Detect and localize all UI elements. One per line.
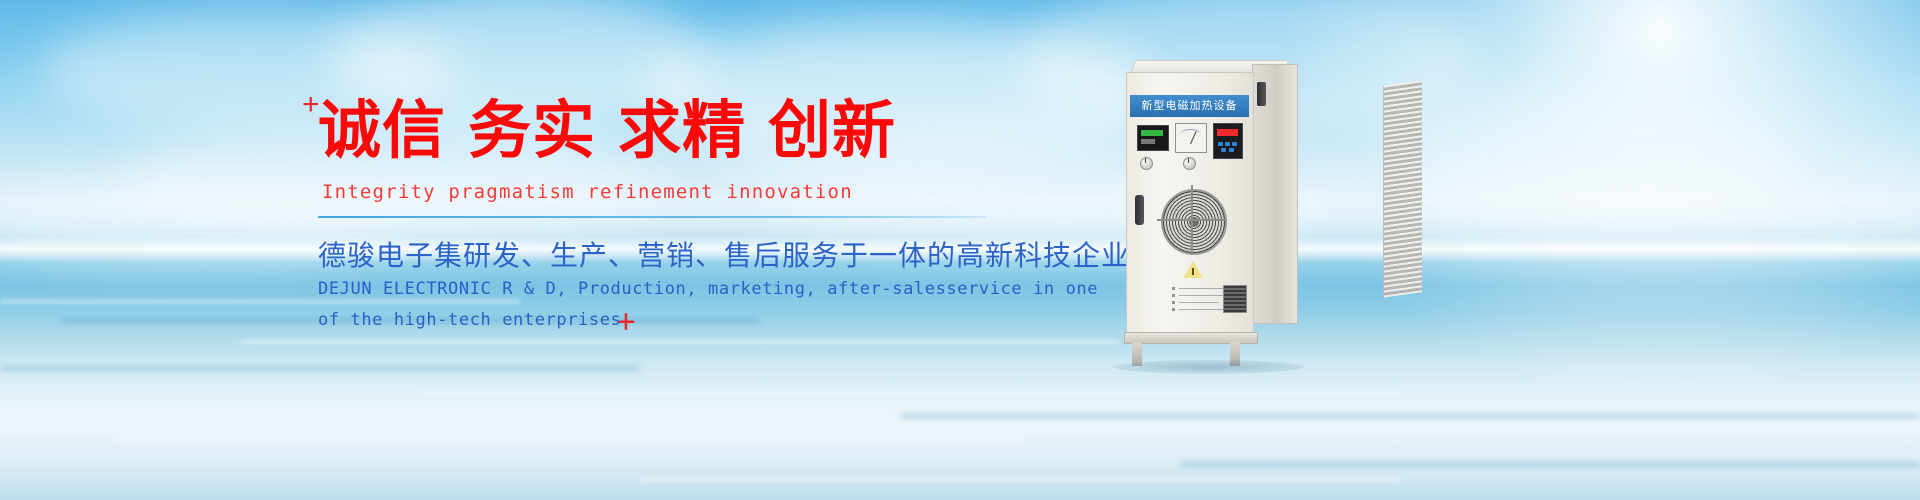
headline-tagline-en: Integrity pragmatism refinement innovati… (322, 181, 1078, 203)
knob-marker (1145, 158, 1146, 163)
water-streak (240, 340, 1120, 343)
divider-rule (318, 216, 986, 218)
keypad-key (1225, 142, 1230, 146)
headline-word-1: 诚信 (318, 94, 446, 167)
analog-gauge-icon (1175, 123, 1207, 153)
keypad-key (1221, 148, 1226, 152)
hero-banner: + + 诚信务实求精创新 Integrity pragmatism refine… (0, 0, 1920, 500)
control-knob-icon (1183, 157, 1196, 170)
keypad-key (1218, 142, 1223, 146)
water-streak (420, 392, 1400, 395)
cloud-decoration (1380, 90, 1800, 220)
headline-word-2: 务实 (468, 94, 596, 167)
spec-line (1179, 309, 1229, 310)
spec-bullet (1172, 294, 1175, 297)
page-title: 诚信务实求精创新 (318, 96, 1078, 167)
side-handle-icon (1257, 82, 1266, 106)
subtitle-english-block: DEJUN ELECTRONIC R & D, Production, mark… (318, 274, 1098, 337)
keypad-key (1232, 142, 1237, 146)
subtitle-english-line-1: DEJUN ELECTRONIC R & D, Production, mark… (318, 274, 1098, 305)
ventilation-louvers-icon (1383, 80, 1422, 297)
led-readout (1217, 129, 1238, 136)
door-handle-icon (1135, 195, 1144, 225)
machine-shadow (1114, 360, 1304, 374)
controller-keypad (1218, 142, 1238, 154)
headline-word-3: 求精 (618, 94, 746, 167)
water-streak (640, 478, 1400, 481)
digital-display-icon (1137, 125, 1169, 151)
led-controller-icon (1213, 123, 1243, 159)
knob-marker (1188, 158, 1189, 163)
spec-line (1179, 288, 1223, 289)
spec-bullet (1172, 301, 1175, 304)
spec-bullet (1172, 308, 1175, 311)
plus-decoration-icon: + (302, 90, 320, 120)
banner-copy-block: 诚信务实求精创新 Integrity pragmatism refinement… (318, 96, 1078, 203)
water-streak (120, 438, 1020, 441)
water-streak (900, 414, 1920, 419)
spec-bullet (1172, 287, 1175, 290)
machine-front-panel: 新型电磁加热设备 (1126, 72, 1254, 336)
control-knob-icon (1140, 157, 1153, 170)
subtitle-english-line-2: of the high-tech enterprises (318, 305, 1098, 336)
water-streak (1180, 462, 1920, 467)
fan-brace (1191, 185, 1193, 255)
spec-line (1179, 295, 1227, 296)
lower-vent-icon (1223, 285, 1247, 313)
headline-word-4: 创新 (768, 94, 896, 167)
high-voltage-warning-icon (1183, 261, 1203, 278)
specification-plate-icon (1171, 285, 1229, 315)
display-segment (1141, 139, 1155, 144)
product-image-heating-equipment: 新型电磁加热设备 (1126, 60, 1326, 360)
machine-nameplate-label: 新型电磁加热设备 (1130, 95, 1249, 117)
cooling-fan-grille-icon (1161, 189, 1227, 255)
keypad-key (1229, 148, 1234, 152)
water-streak (0, 366, 640, 371)
gauge-scale (1180, 129, 1201, 140)
spec-line (1179, 302, 1219, 303)
subtitle-chinese: 德骏电子集研发、生产、营销、售后服务于一体的高新科技企业 (318, 234, 1130, 274)
display-segment (1141, 130, 1163, 136)
